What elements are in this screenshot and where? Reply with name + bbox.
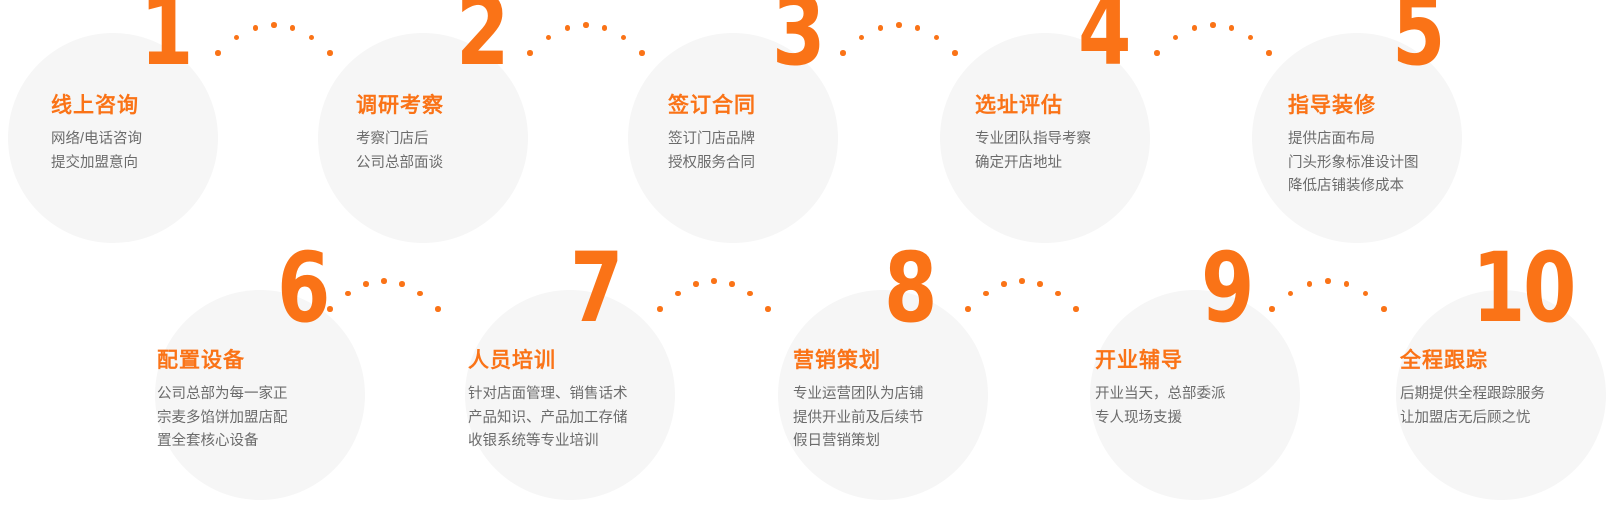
connector-dot: [1381, 306, 1387, 312]
connector-1-to-2: [218, 22, 330, 56]
step-title-9: 开业辅导: [1095, 349, 1226, 372]
step-number-3: 3: [772, 0, 823, 71]
connector-dot: [934, 35, 940, 41]
connector-dot: [965, 306, 971, 312]
step-desc-line: 宗麦多馅饼加盟店配: [157, 407, 288, 430]
step-number-4: 4: [1078, 0, 1129, 71]
connector-dot: [747, 291, 753, 297]
connector-4-to-5: [1157, 22, 1269, 56]
step-number-1: 1: [140, 0, 191, 71]
step-desc-3: 签订门店品牌 授权服务合同: [668, 128, 756, 175]
step-desc-line: 收银系统等专业培训: [468, 430, 628, 453]
connector-2-to-3: [530, 22, 642, 56]
step-text-3: 签订合同 签订门店品牌 授权服务合同: [668, 94, 756, 175]
connector-dot: [215, 50, 221, 56]
step-desc-line: 门头形象标准设计图: [1288, 152, 1419, 175]
step-title-5: 指导装修: [1288, 94, 1419, 117]
connector-dot: [711, 278, 717, 284]
step-desc-9: 开业当天，总部委派 专人现场支援: [1095, 383, 1226, 430]
step-text-8: 营销策划 专业运营团队为店铺 提供开业前及后续节 假日营销策划: [793, 349, 924, 454]
step-title-7: 人员培训: [468, 349, 628, 372]
step-desc-line: 考察门店后: [356, 128, 444, 151]
step-title-6: 配置设备: [157, 349, 288, 372]
step-desc-line: 假日营销策划: [793, 430, 924, 453]
connector-dot: [309, 35, 315, 41]
step-desc-line: 置全套核心设备: [157, 430, 288, 453]
step-desc-line: 专业运营团队为店铺: [793, 383, 924, 406]
step-number-5: 5: [1392, 0, 1443, 71]
step-desc-line: 针对店面管理、销售话术: [468, 383, 628, 406]
step-desc-4: 专业团队指导考察 确定开店地址: [975, 128, 1091, 175]
connector-dot: [399, 281, 405, 287]
connector-6-to-7: [330, 278, 438, 312]
connector-dot: [878, 25, 884, 31]
connector-dot: [765, 306, 771, 312]
connector-dot: [1019, 278, 1025, 284]
step-desc-line: 网络/电话咨询: [51, 128, 142, 151]
connector-dot: [896, 22, 902, 28]
connector-dot: [639, 50, 645, 56]
connector-dot: [657, 306, 663, 312]
step-desc-2: 考察门店后 公司总部面谈: [356, 128, 444, 175]
connector-dot: [417, 291, 423, 297]
step-desc-line: 让加盟店无后顾之忧: [1400, 407, 1545, 430]
step-title-10: 全程跟踪: [1400, 349, 1545, 372]
connector-dot: [1363, 291, 1369, 297]
connector-dot: [1154, 50, 1160, 56]
connector-dot: [1344, 281, 1350, 287]
step-desc-line: 提供店面布局: [1288, 128, 1419, 151]
connector-dot: [327, 50, 333, 56]
step-desc-5: 提供店面布局 门头形象标准设计图 降低店铺装修成本: [1288, 128, 1419, 198]
connector-dot: [840, 50, 846, 56]
connector-7-to-8: [660, 278, 768, 312]
step-desc-line: 签订门店品牌: [668, 128, 756, 151]
step-text-6: 配置设备 公司总部为每一家正 宗麦多馅饼加盟店配 置全套核心设备: [157, 349, 288, 454]
connector-dot: [1037, 281, 1043, 287]
step-text-2: 调研考察 考察门店后 公司总部面谈: [356, 94, 444, 175]
step-desc-1: 网络/电话咨询 提交加盟意向: [51, 128, 142, 175]
connector-dot: [1055, 291, 1061, 297]
step-number-6: 6: [277, 249, 328, 328]
connector-dot: [729, 281, 735, 287]
step-number-2: 2: [456, 0, 507, 71]
step-desc-7: 针对店面管理、销售话术 产品知识、产品加工存储 收银系统等专业培训: [468, 383, 628, 453]
process-flow-diagram: 1 2 3 4 5 6 7 8 9 10 线上咨询 网络/电话咨询 提交加盟意向…: [0, 0, 1606, 508]
step-desc-6: 公司总部为每一家正 宗麦多馅饼加盟店配 置全套核心设备: [157, 383, 288, 453]
connector-dot: [1269, 306, 1275, 312]
step-desc-line: 降低店铺装修成本: [1288, 175, 1419, 198]
step-desc-line: 专业团队指导考察: [975, 128, 1091, 151]
step-desc-line: 开业当天，总部委派: [1095, 383, 1226, 406]
connector-dot: [327, 306, 333, 312]
connector-dot: [983, 291, 989, 297]
connector-dot: [859, 35, 865, 41]
step-text-1: 线上咨询 网络/电话咨询 提交加盟意向: [51, 94, 142, 175]
step-number-10: 10: [1472, 249, 1574, 328]
step-desc-line: 公司总部面谈: [356, 152, 444, 175]
connector-dot: [363, 281, 369, 287]
connector-dot: [1192, 25, 1198, 31]
connector-dot: [546, 35, 552, 41]
step-text-5: 指导装修 提供店面布局 门头形象标准设计图 降低店铺装修成本: [1288, 94, 1419, 199]
step-number-9: 9: [1201, 249, 1252, 328]
step-desc-line: 后期提供全程跟踪服务: [1400, 383, 1545, 406]
connector-dot: [1173, 35, 1179, 41]
connector-3-to-4: [843, 22, 955, 56]
connector-dot: [290, 25, 296, 31]
connector-dot: [271, 22, 277, 28]
connector-dot: [234, 35, 240, 41]
step-desc-line: 提交加盟意向: [51, 152, 142, 175]
connector-dot: [693, 281, 699, 287]
connector-dot: [583, 22, 589, 28]
step-title-4: 选址评估: [975, 94, 1091, 117]
connector-dot: [1210, 22, 1216, 28]
connector-dot: [675, 291, 681, 297]
step-text-10: 全程跟踪 后期提供全程跟踪服务 让加盟店无后顾之忧: [1400, 349, 1545, 430]
connector-dot: [1248, 35, 1254, 41]
step-title-1: 线上咨询: [51, 94, 142, 117]
connector-dot: [527, 50, 533, 56]
connector-dot: [1229, 25, 1235, 31]
connector-9-to-10: [1272, 278, 1384, 312]
connector-dot: [1266, 50, 1272, 56]
step-number-8: 8: [884, 249, 935, 328]
step-desc-line: 公司总部为每一家正: [157, 383, 288, 406]
connector-dot: [253, 25, 259, 31]
step-desc-line: 专人现场支援: [1095, 407, 1226, 430]
step-desc-line: 提供开业前及后续节: [793, 407, 924, 430]
connector-dot: [1307, 281, 1313, 287]
connector-dot: [1073, 306, 1079, 312]
step-desc-8: 专业运营团队为店铺 提供开业前及后续节 假日营销策划: [793, 383, 924, 453]
connector-dot: [602, 25, 608, 31]
step-title-2: 调研考察: [356, 94, 444, 117]
connector-dot: [1288, 291, 1294, 297]
connector-8-to-9: [968, 278, 1076, 312]
connector-dot: [435, 306, 441, 312]
connector-dot: [565, 25, 571, 31]
connector-dot: [915, 25, 921, 31]
step-text-7: 人员培训 针对店面管理、销售话术 产品知识、产品加工存储 收银系统等专业培训: [468, 349, 628, 454]
step-desc-line: 产品知识、产品加工存储: [468, 407, 628, 430]
step-number-7: 7: [570, 249, 621, 328]
step-text-4: 选址评估 专业团队指导考察 确定开店地址: [975, 94, 1091, 175]
connector-dot: [621, 35, 627, 41]
step-desc-10: 后期提供全程跟踪服务 让加盟店无后顾之忧: [1400, 383, 1545, 430]
step-title-8: 营销策划: [793, 349, 924, 372]
connector-dot: [1325, 278, 1331, 284]
connector-dot: [345, 291, 351, 297]
step-desc-line: 授权服务合同: [668, 152, 756, 175]
connector-dot: [952, 50, 958, 56]
connector-dot: [381, 278, 387, 284]
step-desc-line: 确定开店地址: [975, 152, 1091, 175]
connector-dot: [1001, 281, 1007, 287]
step-title-3: 签订合同: [668, 94, 756, 117]
step-text-9: 开业辅导 开业当天，总部委派 专人现场支援: [1095, 349, 1226, 430]
